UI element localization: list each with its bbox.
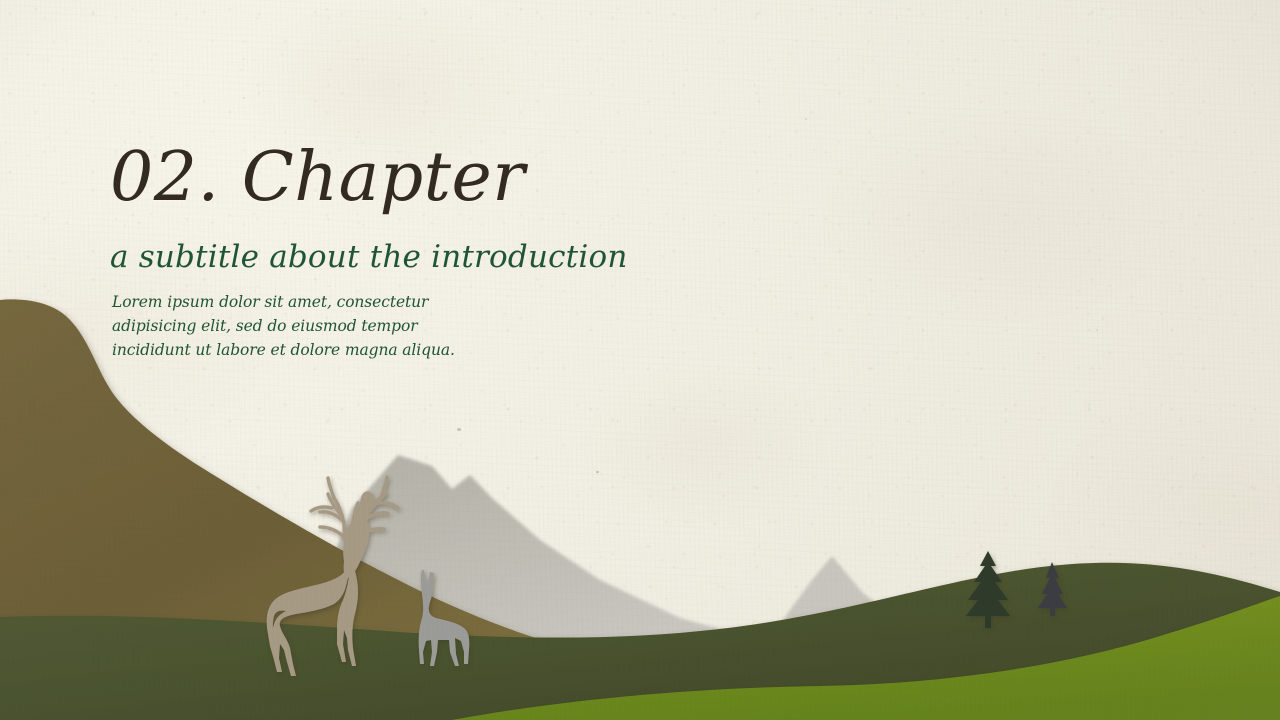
chapter-subtitle: a subtitle about the introduction: [110, 240, 870, 274]
chapter-title: 02. Chapter: [110, 143, 870, 212]
slide-canvas: 02. Chapter a subtitle about the introdu…: [0, 0, 1280, 720]
chapter-body-text: Lorem ipsum dolor sit amet, consectetur …: [112, 291, 870, 362]
chapter-text-block: 02. Chapter a subtitle about the introdu…: [110, 143, 870, 362]
